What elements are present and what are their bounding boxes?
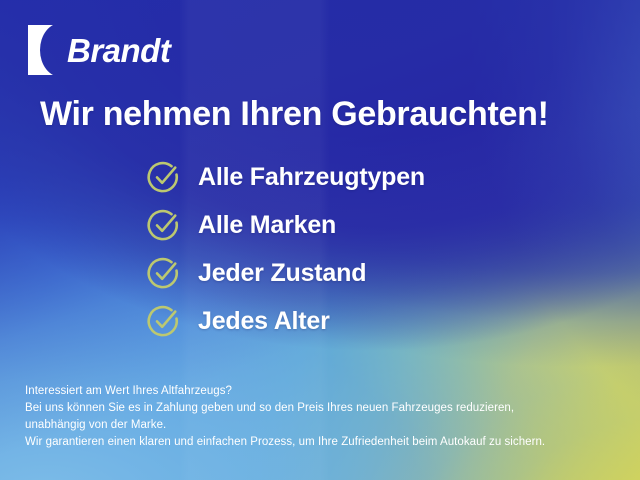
footer-line: unabhängig von der Marke. [25,417,585,434]
list-item-label: Alle Fahrzeugtypen [198,165,425,190]
check-circle-icon [147,256,181,290]
banner-content: Brandt Wir nehmen Ihren Gebrauchten! All… [0,0,640,480]
check-circle-icon [147,208,181,242]
footer-line: Interessiert am Wert Ihres Altfahrzeugs? [25,383,585,400]
list-item-label: Jeder Zustand [198,261,366,286]
list-item: Jeder Zustand [147,256,425,290]
promo-banner: Brandt Wir nehmen Ihren Gebrauchten! All… [0,0,640,480]
check-circle-icon [147,304,181,338]
list-item-label: Jedes Alter [198,309,330,334]
list-item-label: Alle Marken [198,213,336,238]
brandt-pennant-mark [26,23,60,77]
brand-name: Brandt [67,34,170,67]
check-circle-icon [147,160,181,194]
footer-description: Interessiert am Wert Ihres Altfahrzeugs?… [25,383,585,451]
list-item: Alle Fahrzeugtypen [147,160,425,194]
footer-line: Bei uns können Sie es in Zahlung geben u… [25,400,585,417]
benefits-checklist: Alle Fahrzeugtypen Alle Marken Jeder Zus… [147,160,425,338]
list-item: Jedes Alter [147,304,425,338]
brand-logo: Brandt [26,23,170,77]
headline: Wir nehmen Ihren Gebrauchten! [40,96,549,133]
footer-line: Wir garantieren einen klaren und einfach… [25,434,585,451]
list-item: Alle Marken [147,208,425,242]
